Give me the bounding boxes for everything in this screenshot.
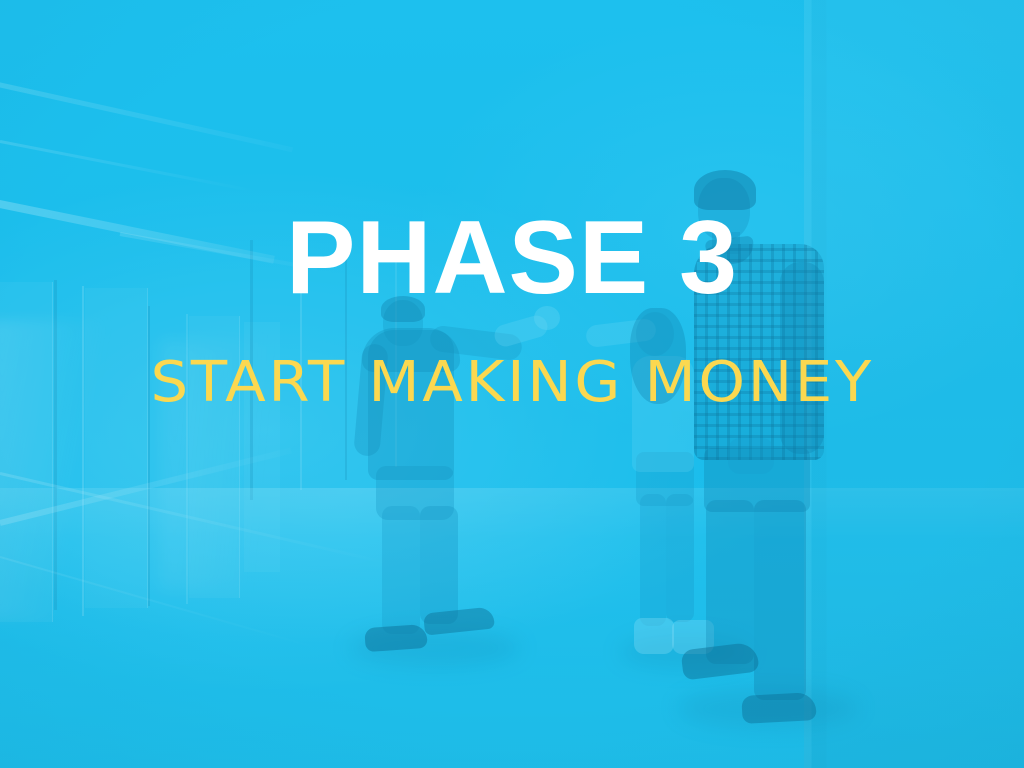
people-group — [0, 0, 1024, 768]
slide-canvas: PHASE 3 START MAKING MONEY — [0, 0, 1024, 768]
leg — [754, 500, 806, 700]
leg — [382, 506, 420, 634]
hair — [694, 170, 756, 210]
leg — [706, 500, 754, 664]
leg — [640, 494, 666, 626]
leg — [420, 506, 458, 624]
handshake-hand — [534, 306, 560, 330]
hair — [381, 296, 425, 322]
head — [636, 312, 674, 356]
arm — [780, 262, 824, 454]
hand — [728, 438, 774, 474]
shoe — [741, 692, 816, 724]
shoe — [634, 618, 674, 654]
leg — [666, 494, 694, 622]
background-scene — [0, 0, 1024, 768]
shoe — [364, 624, 428, 652]
